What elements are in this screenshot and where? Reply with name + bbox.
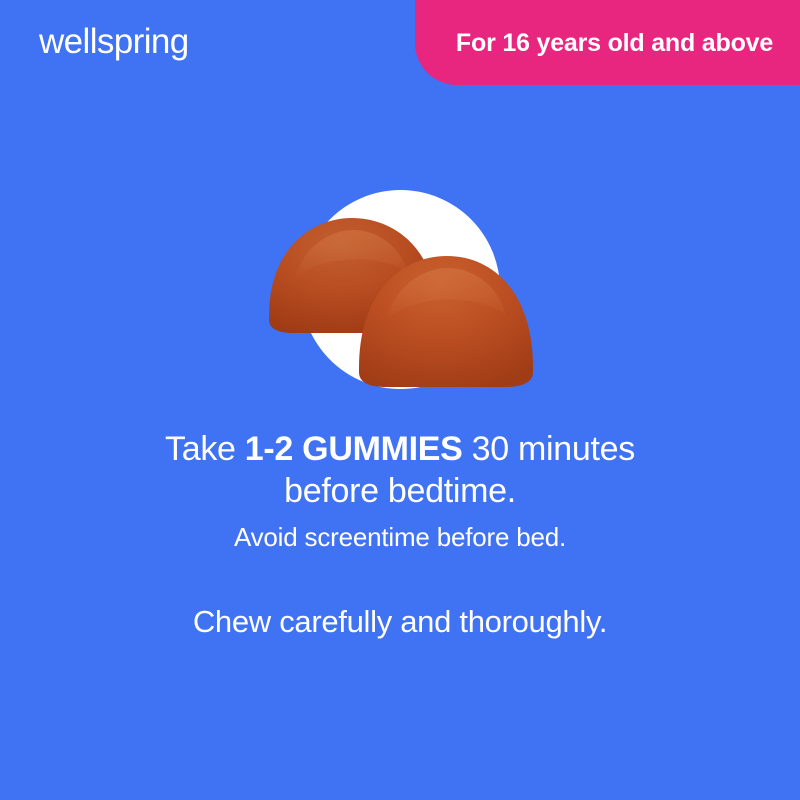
- dosage-line-2: before bedtime.: [0, 470, 800, 512]
- dosage-emphasis: 1-2 GUMMIES: [245, 430, 463, 468]
- age-restriction-label: For 16 years old and above: [442, 28, 773, 58]
- age-restriction-banner: For 16 years old and above: [415, 0, 800, 85]
- dosage-instructions: Take 1-2 GUMMIES 30 minutes before bedti…: [0, 428, 800, 553]
- dosage-suffix: 30 minutes: [463, 430, 635, 468]
- gummies-illustration: [255, 170, 545, 410]
- brand-logo: wellspring: [39, 20, 189, 64]
- dosage-prefix: Take: [165, 430, 245, 468]
- chew-instruction-label: Chew carefully and thoroughly.: [0, 602, 800, 642]
- product-instruction-poster: wellspring For 16 years old and above: [0, 0, 800, 800]
- product-visual: [255, 170, 545, 410]
- dosage-note: Avoid screentime before bed.: [0, 521, 800, 553]
- chew-instruction: Chew carefully and thoroughly.: [0, 602, 800, 642]
- dosage-line-1: Take 1-2 GUMMIES 30 minutes: [0, 428, 800, 470]
